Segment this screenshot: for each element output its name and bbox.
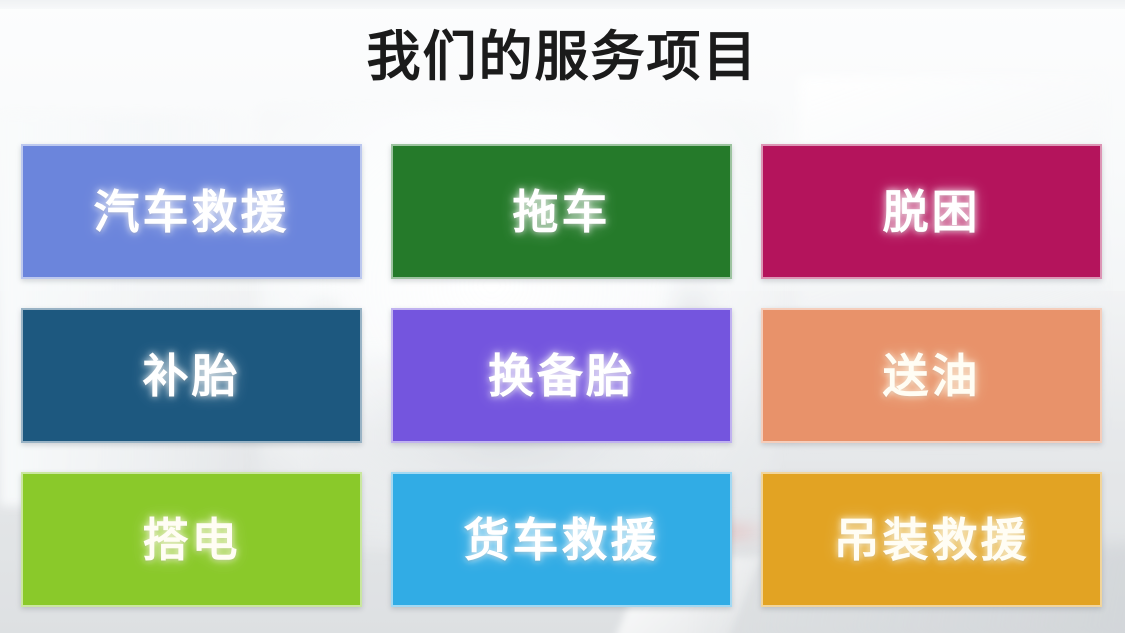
service-tile-label: 送油 xyxy=(883,353,981,399)
service-tile-label: 货车救援 xyxy=(464,517,660,563)
service-tile-label: 吊装救援 xyxy=(834,517,1030,563)
service-tile-label: 搭电 xyxy=(143,517,241,563)
service-tile[interactable]: 搭电 xyxy=(21,472,362,607)
service-tile-label: 汽车救援 xyxy=(94,189,290,235)
page-title: 我们的服务项目 xyxy=(0,21,1125,93)
service-items-poster: 我们的服务项目 汽车救援拖车脱困补胎换备胎送油搭电货车救援吊装救援 xyxy=(0,0,1125,633)
service-tile-grid: 汽车救援拖车脱困补胎换备胎送油搭电货车救援吊装救援 xyxy=(21,144,1103,607)
service-tile[interactable]: 汽车救援 xyxy=(21,144,362,279)
service-tile-label: 拖车 xyxy=(513,189,611,235)
service-tile[interactable]: 送油 xyxy=(761,308,1102,443)
service-tile[interactable]: 换备胎 xyxy=(391,308,732,443)
service-tile[interactable]: 货车救援 xyxy=(391,472,732,607)
service-tile-label: 补胎 xyxy=(143,353,241,399)
service-tile[interactable]: 拖车 xyxy=(391,144,732,279)
service-tile[interactable]: 脱困 xyxy=(761,144,1102,279)
service-tile[interactable]: 补胎 xyxy=(21,308,362,443)
service-tile-label: 换备胎 xyxy=(488,353,635,399)
service-tile[interactable]: 吊装救援 xyxy=(761,472,1102,607)
service-tile-label: 脱困 xyxy=(883,189,981,235)
